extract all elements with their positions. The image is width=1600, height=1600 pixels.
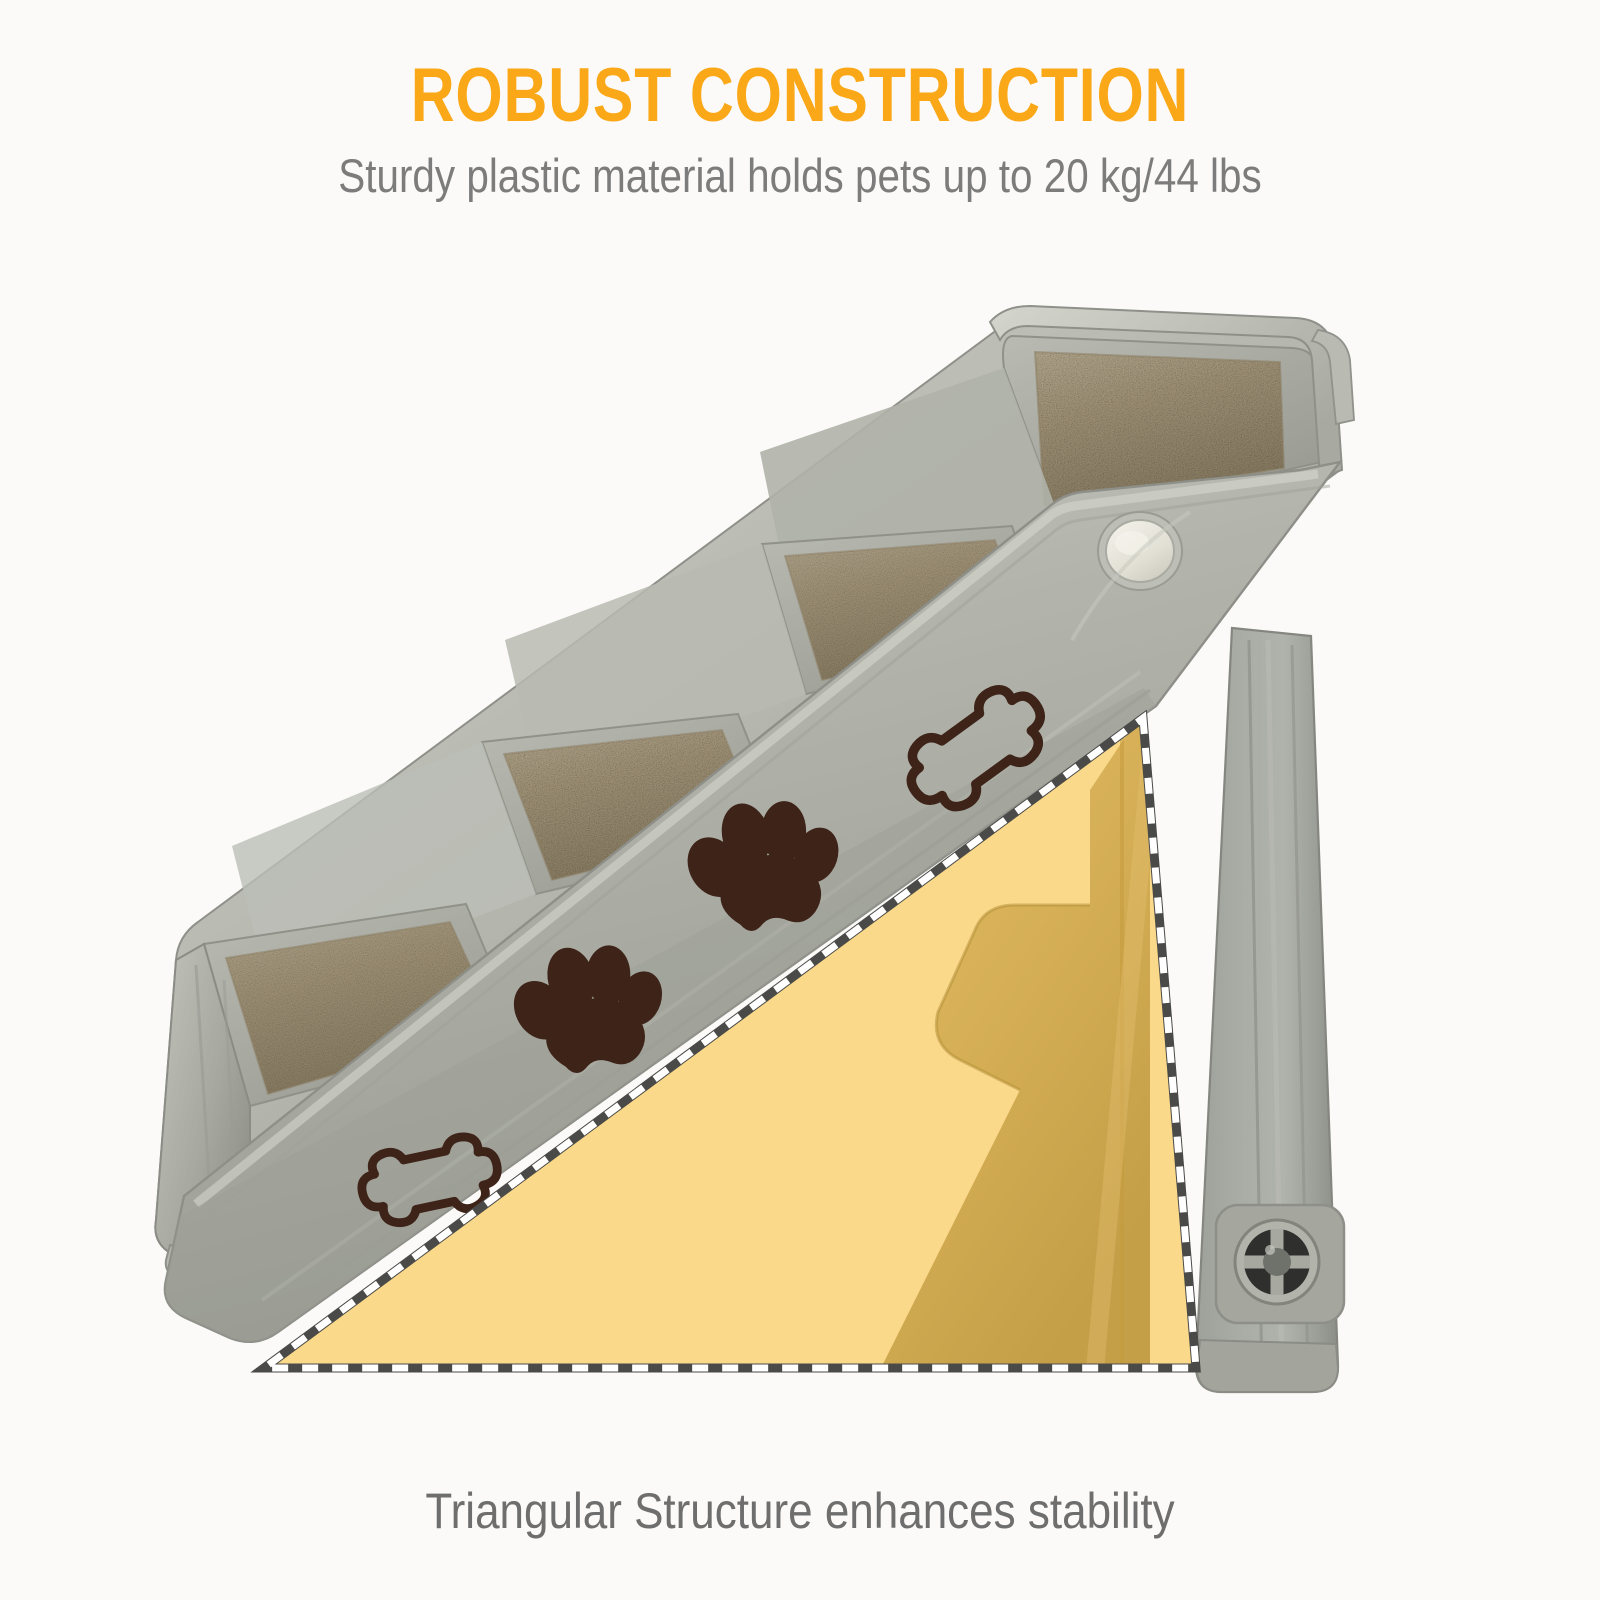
- product-feature-card: ROBUST CONSTRUCTION Sturdy plastic mater…: [0, 0, 1600, 1600]
- product-illustration: [0, 0, 1600, 1600]
- caption-text: Triangular Structure enhances stability: [96, 1486, 1504, 1536]
- hinge-bolt: [1216, 1205, 1344, 1323]
- rear-support-leg: [1196, 628, 1344, 1392]
- product-image: [0, 0, 1600, 1600]
